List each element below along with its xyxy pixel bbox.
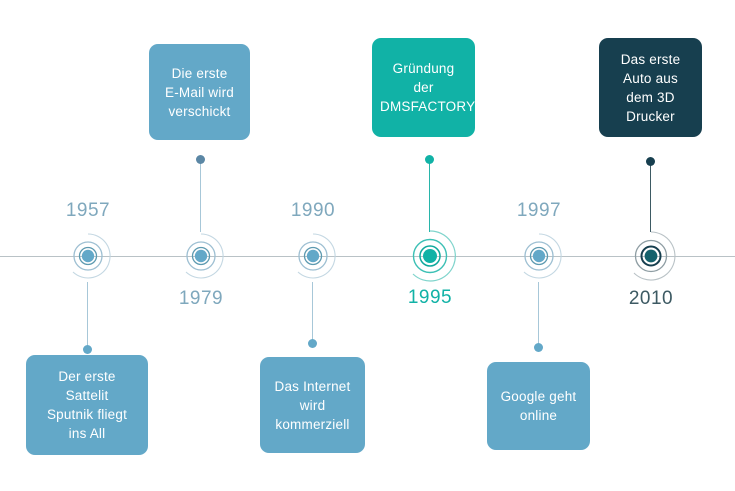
year-label-1979: 1979 bbox=[161, 288, 241, 310]
year-label-1997: 1997 bbox=[499, 200, 579, 222]
connector-dot-1957-sputnik bbox=[83, 345, 92, 354]
connector-dot-1997-google bbox=[534, 343, 543, 352]
event-box-1957-sputnik[interactable]: Der ersteSattelitSputnik fliegtins All bbox=[26, 355, 148, 455]
event-box-1990-internet[interactable]: Das Internetwirdkommerziell bbox=[260, 357, 365, 453]
connector-line-1997-google bbox=[538, 282, 539, 347]
connector-line-1979-email bbox=[200, 160, 201, 232]
connector-line-1957-sputnik bbox=[87, 282, 88, 350]
event-box-label: Google gehtonline bbox=[495, 387, 582, 425]
timeline-node-1979[interactable] bbox=[173, 228, 229, 284]
connector-line-2010-3dprinter bbox=[650, 162, 651, 232]
timeline-node-1995[interactable] bbox=[398, 224, 462, 288]
event-box-label: Das Internetwirdkommerziell bbox=[268, 377, 357, 434]
event-box-label: Der ersteSattelitSputnik fliegtins All bbox=[34, 367, 140, 443]
connector-dot-1990-internet bbox=[308, 339, 317, 348]
year-label-1957: 1957 bbox=[48, 200, 128, 222]
event-box-label: Das ersteAuto ausdem 3DDrucker bbox=[607, 50, 694, 126]
timeline-node-1997[interactable] bbox=[511, 228, 567, 284]
connector-dot-2010-3dprinter bbox=[646, 157, 655, 166]
event-box-1979-email[interactable]: Die ersteE-Mail wirdverschickt bbox=[149, 44, 250, 140]
event-box-label: GründungderDMSFACTORY bbox=[380, 59, 467, 116]
year-label-1990: 1990 bbox=[273, 200, 353, 222]
connector-line-1990-internet bbox=[312, 282, 313, 344]
timeline-node-1990[interactable] bbox=[285, 228, 341, 284]
connector-dot-1995-dmsfactory bbox=[425, 155, 434, 164]
event-box-label: Die ersteE-Mail wirdverschickt bbox=[157, 64, 242, 121]
event-box-2010-3dprinter[interactable]: Das ersteAuto ausdem 3DDrucker bbox=[599, 38, 702, 137]
timeline-node-2010[interactable] bbox=[621, 226, 681, 286]
connector-dot-1979-email bbox=[196, 155, 205, 164]
timeline-node-1957[interactable] bbox=[60, 228, 116, 284]
timeline-infographic: Der ersteSattelitSputnik fliegtins All 1… bbox=[0, 0, 735, 491]
year-label-1995: 1995 bbox=[390, 287, 470, 309]
event-box-1995-dmsfactory[interactable]: GründungderDMSFACTORY bbox=[372, 38, 475, 137]
connector-line-1995-dmsfactory bbox=[429, 160, 430, 232]
event-box-1997-google[interactable]: Google gehtonline bbox=[487, 362, 590, 450]
year-label-2010: 2010 bbox=[611, 288, 691, 310]
